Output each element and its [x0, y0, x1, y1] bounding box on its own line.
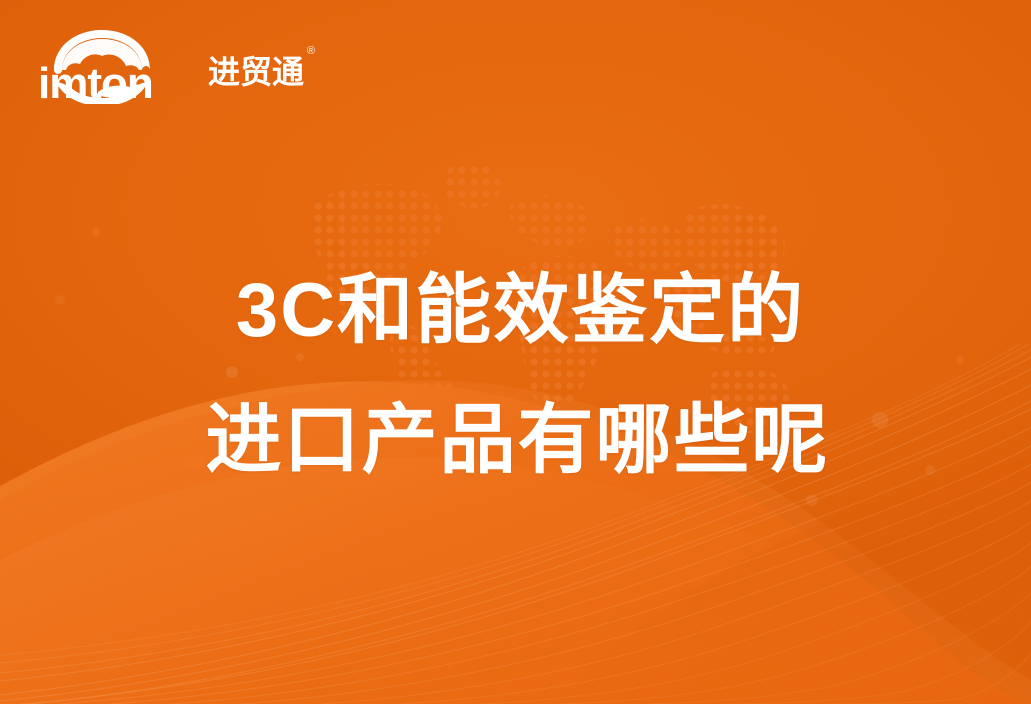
- logo-chinese-name: 进贸通 ®: [208, 56, 304, 104]
- imton-logomark: imton: [36, 26, 206, 104]
- headline-line-1: 3C和能效鉴定的: [0, 246, 1031, 376]
- imton-wordmark-text: imton: [38, 59, 153, 104]
- brand-logo[interactable]: imton 进贸通 ®: [36, 26, 304, 104]
- headline-line-2: 进口产品有哪些呢: [0, 376, 1031, 506]
- logo-chinese-text: 进贸通: [208, 54, 304, 90]
- trademark-symbol: ®: [307, 46, 315, 57]
- promo-banner: imton 进贸通 ® 3C和能效鉴定的 进口产品有哪些呢: [0, 0, 1031, 704]
- headline-block: 3C和能效鉴定的 进口产品有哪些呢: [0, 246, 1031, 506]
